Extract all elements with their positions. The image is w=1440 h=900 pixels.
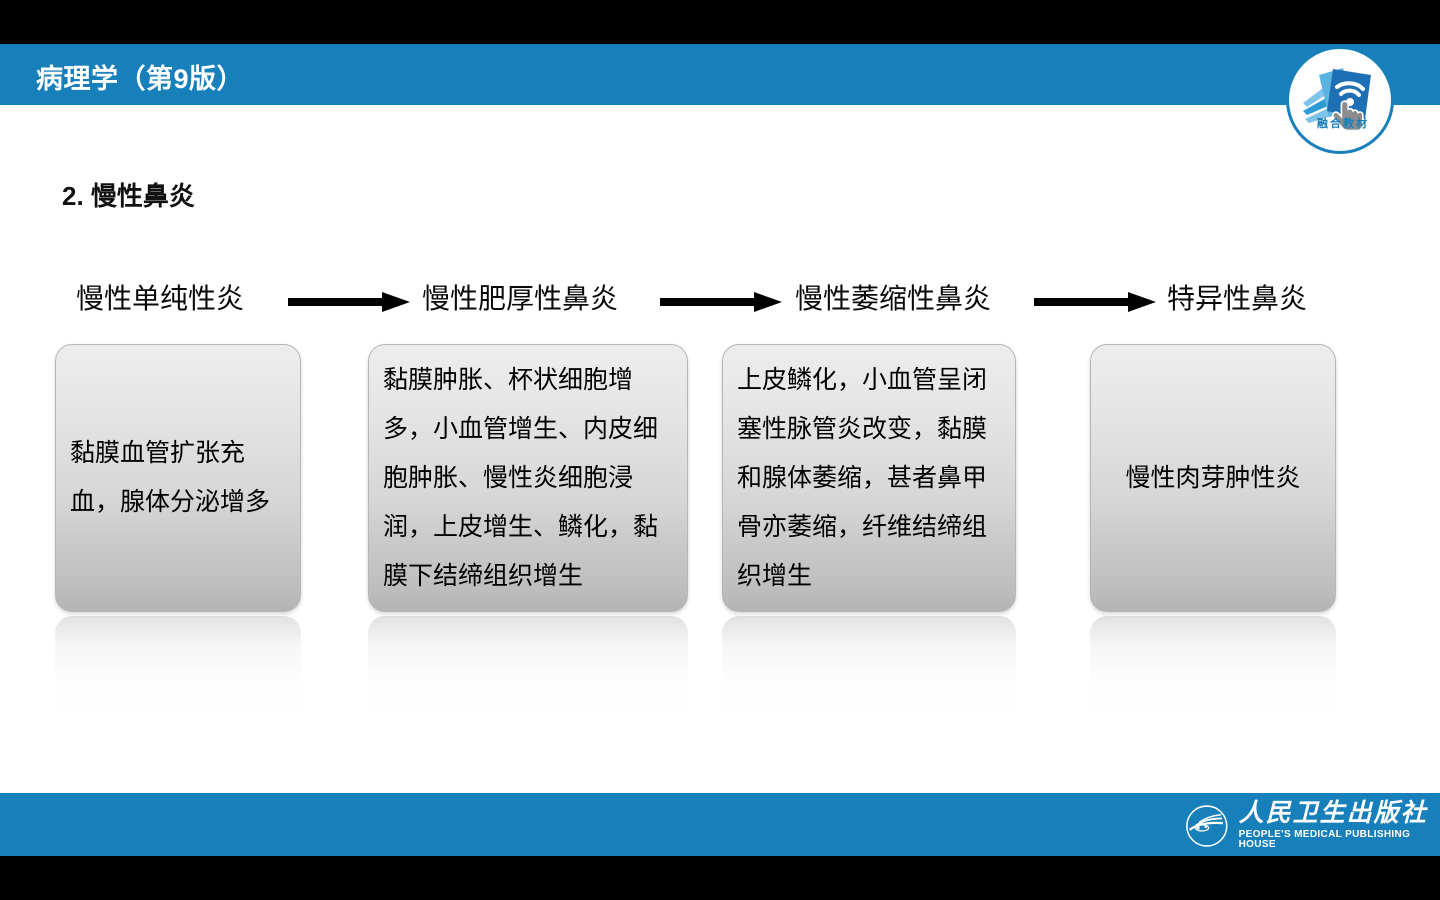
content-box-1: 黏膜血管扩张充血，腺体分泌增多 bbox=[55, 344, 301, 612]
section-title: 2. 慢性鼻炎 bbox=[62, 176, 195, 213]
slide-canvas: 病理学（第9版） 融合教材 2. 慢性鼻炎 慢性单纯性炎 bbox=[0, 0, 1440, 900]
flow-label-1: 慢性单纯性炎 bbox=[76, 279, 244, 319]
fusion-textbook-badge: 融合教材 bbox=[1286, 46, 1394, 154]
content-box-3: 上皮鳞化，小血管呈闭塞性脉管炎改变，黏膜和腺体萎缩，甚者鼻甲骨亦萎缩，纤维结缔组… bbox=[722, 344, 1016, 612]
content-box-1-text: 黏膜血管扩张充血，腺体分泌增多 bbox=[70, 429, 286, 527]
flow-label-2: 慢性肥厚性鼻炎 bbox=[422, 279, 618, 319]
content-box-4-text: 慢性肉芽肿性炎 bbox=[1105, 454, 1321, 503]
content-box-3-text: 上皮鳞化，小血管呈闭塞性脉管炎改变，黏膜和腺体萎缩，甚者鼻甲骨亦萎缩，纤维结缔组… bbox=[737, 356, 1001, 601]
box-reflection-3 bbox=[722, 616, 1016, 721]
arrow-right-icon-2 bbox=[660, 291, 782, 313]
content-box-2-text: 黏膜肿胀、杯状细胞增多，小血管增生、内皮细胞肿胀、慢性炎细胞浸润，上皮增生、鳞化… bbox=[383, 356, 673, 601]
publisher-block: 人民卫生出版社 PEOPLE'S MEDICAL PUBLISHING HOUS… bbox=[1184, 801, 1440, 850]
content-box-2: 黏膜肿胀、杯状细胞增多，小血管增生、内皮细胞肿胀、慢性炎细胞浸润，上皮增生、鳞化… bbox=[368, 344, 688, 612]
top-black-band bbox=[0, 0, 1440, 44]
bottom-black-band bbox=[0, 856, 1440, 900]
box-reflection-4 bbox=[1090, 616, 1336, 721]
badge-label: 融合教材 bbox=[1289, 115, 1394, 131]
publisher-name-cn: 人民卫生出版社 bbox=[1239, 801, 1440, 826]
box-reflection-1 bbox=[55, 616, 301, 721]
content-box-4: 慢性肉芽肿性炎 bbox=[1090, 344, 1336, 612]
wifi-hand-book-icon bbox=[1289, 49, 1391, 151]
pmph-circle-logo bbox=[1184, 802, 1230, 850]
page-title: 病理学（第9版） bbox=[36, 57, 244, 96]
box-reflection-2 bbox=[368, 616, 688, 721]
flow-header-row: 慢性单纯性炎 慢性肥厚性鼻炎 慢性萎缩性鼻炎 特异性鼻炎 bbox=[0, 279, 1440, 323]
flow-label-3: 慢性萎缩性鼻炎 bbox=[795, 279, 991, 319]
arrow-right-icon-1 bbox=[288, 291, 410, 313]
publisher-name-en: PEOPLE'S MEDICAL PUBLISHING HOUSE bbox=[1239, 830, 1440, 850]
arrow-right-icon-3 bbox=[1034, 291, 1156, 313]
flow-label-4: 特异性鼻炎 bbox=[1167, 279, 1307, 319]
